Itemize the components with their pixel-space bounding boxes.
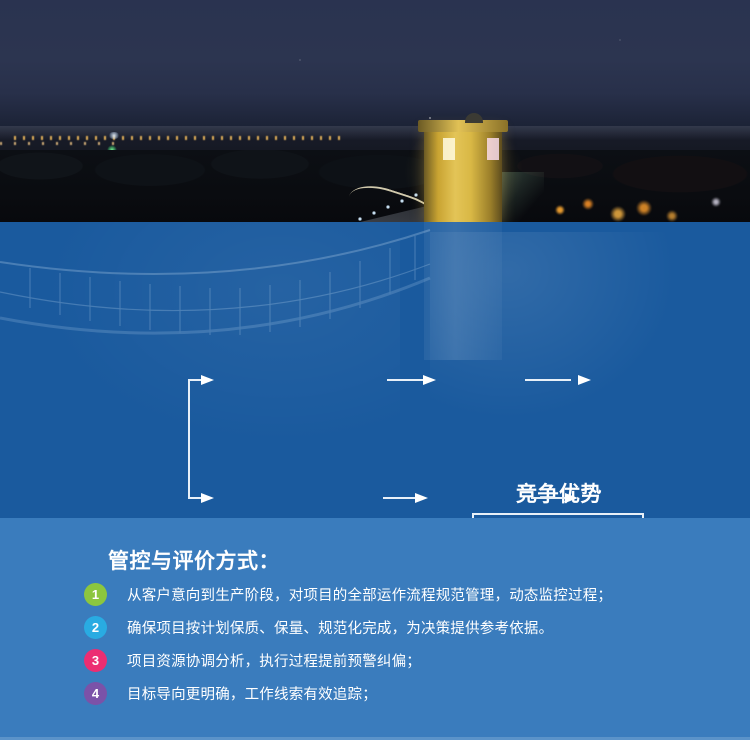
row1-connector-1 <box>387 379 424 381</box>
distant-road-lights <box>14 136 344 140</box>
distant-road-lights-secondary <box>0 142 120 145</box>
bridge-deck-right-glow <box>500 172 544 222</box>
bridge-tower-cap <box>418 120 508 132</box>
poster-root: 竞争优势 降低成本 产品差异化 竞争区域 广阔的目标市场 成本领先 差异化与创新… <box>0 0 750 740</box>
list-text-2: 确保项目按计划保质、保量、规范化完成，为决策提供参考依据。 <box>127 617 553 638</box>
bottom-section-title: 管控与评价方式： <box>108 545 280 575</box>
list-item: 2 确保项目按计划保质、保量、规范化完成，为决策提供参考依据。 <box>84 614 724 640</box>
list-text-4: 目标导向更明确，工作线索有效追踪； <box>127 683 377 704</box>
strategy-matrix-panel: 竞争优势 降低成本 产品差异化 竞争区域 广阔的目标市场 成本领先 差异化与创新… <box>0 222 750 518</box>
row2-connector-1 <box>383 497 416 499</box>
ghost-bridge-cables <box>0 222 750 518</box>
list-badge-2: 2 <box>84 616 107 639</box>
left-bracket-vertical <box>188 379 190 499</box>
list-badge-1: 1 <box>84 583 107 606</box>
bridge-tower-window-left <box>443 138 455 160</box>
bridge-tower-window-right <box>487 138 499 160</box>
matrix-top-title: 竞争优势 <box>516 478 602 508</box>
list-badge-4: 4 <box>84 682 107 705</box>
city-lights <box>540 190 730 222</box>
list-text-1: 从客户意向到生产阶段，对项目的全部运作流程规范管理，动态监控过程； <box>127 584 612 605</box>
row2-connector-2 <box>531 497 565 499</box>
list-text-3: 项目资源协调分析，执行过程提前预警纠偏； <box>127 650 421 671</box>
hero-photo <box>0 0 750 222</box>
list-item: 1 从客户意向到生产阶段，对项目的全部运作流程规范管理，动态监控过程； <box>84 581 724 607</box>
list-badge-3: 3 <box>84 649 107 672</box>
white-light-blob <box>108 132 120 139</box>
row1-arrow-1 <box>423 375 436 385</box>
row1-connector-2 <box>525 379 571 381</box>
row1-arrow-2 <box>578 375 591 385</box>
top-bracket-horizontal <box>472 513 644 515</box>
list-item: 3 项目资源协调分析，执行过程提前预警纠偏； <box>84 647 724 673</box>
left-bracket-top-arrow <box>201 375 214 385</box>
list-item: 4 目标导向更明确，工作线索有效追踪； <box>84 680 724 706</box>
row2-arrow-1 <box>415 493 428 503</box>
left-bracket-bottom-arrow <box>201 493 214 503</box>
row2-arrow-2 <box>565 493 578 503</box>
